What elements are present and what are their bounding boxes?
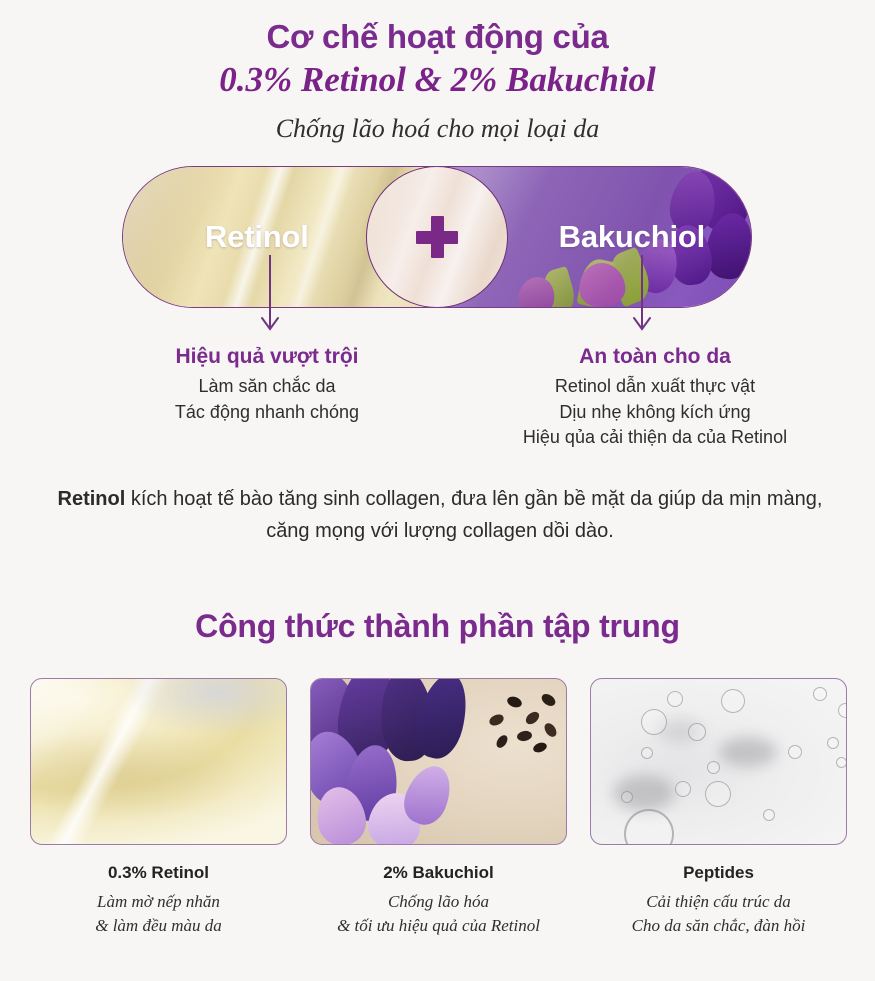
card-sub-line: Cải thiện cấu trúc da (646, 892, 790, 911)
page-title: Cơ chế hoạt động của (0, 18, 875, 57)
flower-petal (577, 261, 627, 307)
gel-bubble (813, 687, 827, 701)
ingredient-card: Peptides Cải thiện cấu trúc da Cho da să… (590, 678, 847, 938)
callout-safety: An toàn cho da Retinol dẫn xuất thực vật… (460, 343, 850, 451)
flower-petal (703, 210, 751, 282)
retinol-cream-photo (30, 678, 287, 845)
callout-line: Hiệu qủa cải thiện da của Retinol (460, 425, 850, 451)
gel-bubble (688, 723, 706, 741)
gel-bubble (707, 761, 720, 774)
card-sub-line: & làm đều màu da (95, 916, 222, 935)
bakuchiol-flower-photo (310, 678, 567, 845)
gel-bubble (641, 747, 653, 759)
paragraph-bold-lead: Retinol (58, 488, 126, 510)
callout-line: Dịu nhẹ không kích ứng (460, 400, 850, 426)
plus-circle (366, 166, 508, 308)
gel-bubble (705, 781, 731, 807)
seed (506, 695, 524, 710)
callout-benefit: Hiệu quả vượt trội Làm săn chắc da Tác đ… (92, 343, 442, 425)
seed (524, 709, 542, 726)
seed (494, 733, 509, 750)
page-subtitle: 0.3% Retinol & 2% Bakuchiol (0, 59, 875, 101)
card-sub-line: & tối ưu hiệu quả của Retinol (337, 916, 540, 935)
page-tagline: Chống lão hoá cho mọi loại da (0, 113, 875, 144)
card-sub-line: Làm mờ nếp nhăn (97, 892, 220, 911)
gel-bubble (836, 757, 847, 768)
card-sub-line: Chống lão hóa (388, 892, 489, 911)
gel-bubble (675, 781, 691, 797)
seed (488, 712, 506, 727)
ingredient-card-list: 0.3% Retinol Làm mờ nếp nhăn & làm đều m… (30, 678, 848, 938)
flower-leaf (576, 256, 615, 307)
ingredient-card: 0.3% Retinol Làm mờ nếp nhăn & làm đều m… (30, 678, 287, 938)
infographic-page: Cơ chế hoạt động của 0.3% Retinol & 2% B… (0, 0, 875, 981)
callout-line: Làm săn chắc da (92, 374, 442, 400)
card-sub-line: Cho da săn chắc, đàn hồi (632, 916, 806, 935)
card-caption: 0.3% Retinol Làm mờ nếp nhăn & làm đều m… (30, 863, 287, 938)
seed (539, 692, 557, 709)
ingredient-combo-banner: Retinol Bakuchiol (122, 166, 752, 308)
gel-bubble (721, 689, 745, 713)
gel-bubble (621, 791, 633, 803)
callout-line: Tác động nhanh chóng (92, 400, 442, 426)
card-subtitle: Làm mờ nếp nhăn & làm đều màu da (30, 890, 287, 938)
card-title: 0.3% Retinol (30, 863, 287, 883)
seed (542, 721, 559, 739)
flower-leaf (539, 266, 578, 307)
section-title: Công thức thành phần tập trung (0, 608, 875, 645)
gel-smudge (719, 737, 777, 767)
banner-label-retinol: Retinol (205, 219, 309, 255)
gel-bubble (838, 703, 847, 718)
ingredient-card: 2% Bakuchiol Chống lão hóa & tối ưu hiệu… (310, 678, 567, 938)
seed (532, 741, 548, 754)
card-caption: 2% Bakuchiol Chống lão hóa & tối ưu hiệu… (310, 863, 567, 938)
callout-title: Hiệu quả vượt trội (92, 343, 442, 370)
callout-title: An toàn cho da (460, 343, 850, 370)
card-caption: Peptides Cải thiện cấu trúc da Cho da să… (590, 863, 847, 938)
paragraph-rest: kích hoạt tế bào tăng sinh collagen, đưa… (125, 488, 822, 542)
peptide-gel-photo (590, 678, 847, 845)
gel-bubble (763, 809, 775, 821)
callout-line: Retinol dẫn xuất thực vật (460, 374, 850, 400)
card-title: Peptides (590, 863, 847, 883)
flower-petal (515, 273, 559, 307)
card-subtitle: Chống lão hóa & tối ưu hiệu quả của Reti… (310, 890, 567, 938)
banner-label-bakuchiol: Bakuchiol (559, 219, 705, 255)
card-title: 2% Bakuchiol (310, 863, 567, 883)
gel-bubble (667, 691, 683, 707)
gel-bubble (788, 745, 802, 759)
description-paragraph: Retinol kích hoạt tế bào tăng sinh colla… (45, 483, 835, 548)
arrow-right-connector (627, 255, 657, 345)
gel-bubble (624, 809, 674, 845)
gel-bubble (827, 737, 839, 749)
seed (516, 730, 533, 742)
plus-icon (416, 216, 458, 258)
card-subtitle: Cải thiện cấu trúc da Cho da săn chắc, đ… (590, 890, 847, 938)
gel-bubble (641, 709, 667, 735)
heading-block: Cơ chế hoạt động của 0.3% Retinol & 2% B… (0, 0, 875, 144)
arrow-left-connector (255, 255, 285, 345)
